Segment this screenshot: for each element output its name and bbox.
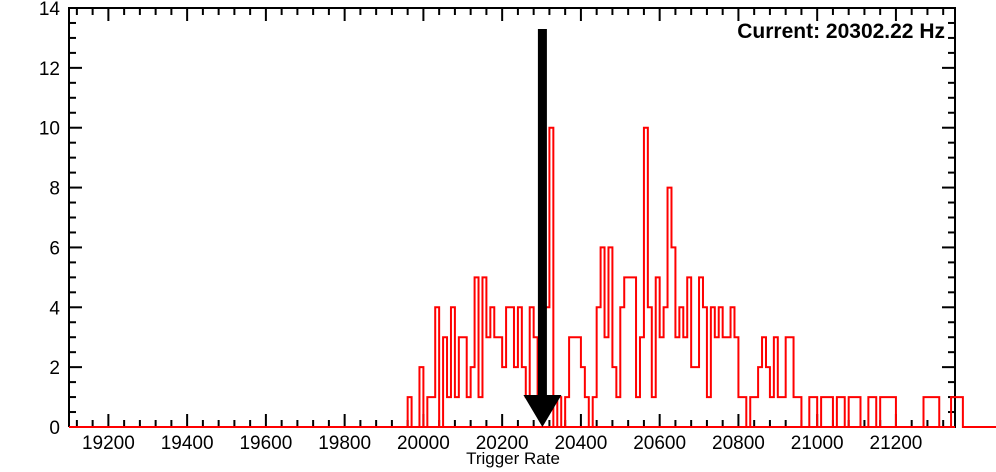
y-tick-label: 8 xyxy=(49,179,60,200)
histogram-outline xyxy=(408,128,996,427)
y-tick-label: 6 xyxy=(49,238,60,259)
y-axis-tick-labels: 02468101214 xyxy=(39,0,61,439)
y-tick-label: 0 xyxy=(49,418,60,439)
x-tick-label: 20000 xyxy=(397,433,450,454)
x-tick-label: 21000 xyxy=(791,433,844,454)
marker-arrowhead-icon xyxy=(523,395,561,427)
x-axis-title: Trigger Rate xyxy=(466,449,560,468)
plot-frame xyxy=(69,8,955,427)
x-tick-label: 19400 xyxy=(161,433,214,454)
x-tick-label: 20800 xyxy=(712,433,765,454)
y-tick-label: 14 xyxy=(39,0,61,20)
histogram-panel: 1920019400196001980020000202002040020600… xyxy=(0,0,996,472)
x-tick-label: 20600 xyxy=(633,433,686,454)
current-rate-annotation: Current: 20302.22 Hz xyxy=(737,20,945,43)
y-tick-label: 4 xyxy=(49,298,60,319)
x-tick-label: 20400 xyxy=(554,433,607,454)
y-tick-label: 2 xyxy=(49,358,60,379)
x-tick-label: 21200 xyxy=(870,433,923,454)
x-tick-label: 19800 xyxy=(318,433,371,454)
y-tick-label: 12 xyxy=(39,59,60,80)
axis-frame xyxy=(69,8,955,427)
x-tick-label: 19600 xyxy=(239,433,292,454)
y-tick-label: 10 xyxy=(39,119,60,140)
x-tick-label: 19200 xyxy=(82,433,135,454)
y-axis-ticks xyxy=(69,8,955,427)
trigger-rate-histogram: 1920019400196001980020000202002040020600… xyxy=(0,0,996,472)
histogram-series xyxy=(69,128,996,427)
x-axis-ticks xyxy=(77,8,943,427)
